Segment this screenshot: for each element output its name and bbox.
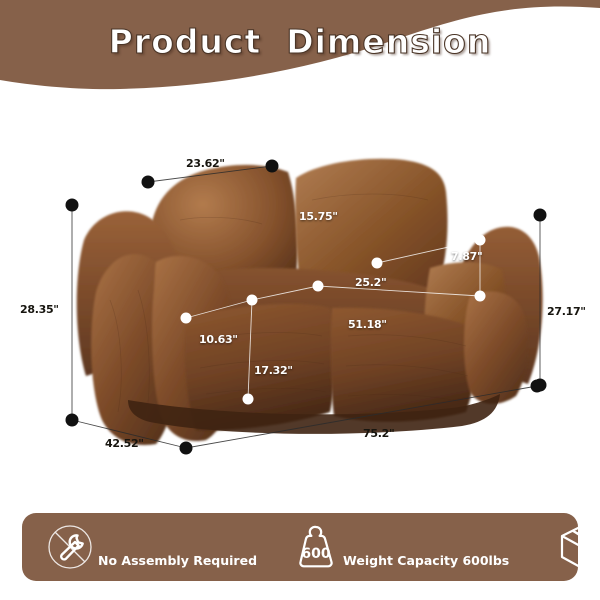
dot-pillow-left bbox=[142, 176, 155, 189]
dot-seat-front bbox=[313, 281, 324, 292]
dim-label-seat-depth: 25.2" bbox=[355, 276, 386, 289]
wrench-no-assembly-icon bbox=[46, 523, 94, 571]
package-box-icon bbox=[557, 522, 600, 572]
dimension-annotation-overlay bbox=[0, 0, 600, 600]
dimension-endpoint-dots-dark bbox=[66, 160, 547, 455]
dim-label-overall-height: 28.35" bbox=[20, 303, 59, 316]
feature-weight-capacity: 600 Weight Capacity 600lbs bbox=[293, 513, 509, 581]
dot-bolster-bottom bbox=[475, 291, 486, 302]
dot-seat-depth-back bbox=[372, 258, 383, 269]
feature-weight-capacity-label: Weight Capacity 600lbs bbox=[343, 553, 509, 568]
dot-seat-bottom bbox=[243, 394, 254, 405]
dot-bolster-top bbox=[475, 235, 486, 246]
dot-pillow-right bbox=[266, 160, 279, 173]
dim-label-overall-depth: 42.52" bbox=[105, 437, 144, 450]
feature-package-count: One Package bbox=[557, 513, 600, 581]
weight-icon-value: 600 bbox=[301, 546, 330, 562]
dot-arm-right bbox=[247, 295, 258, 306]
feature-no-assembly: No Assembly Required bbox=[46, 513, 257, 581]
dot-height-bottom bbox=[66, 414, 79, 427]
dot-height-top bbox=[66, 199, 79, 212]
dim-label-seat-height: 17.32" bbox=[254, 364, 293, 377]
dim-label-back-height-right: 27.17" bbox=[547, 305, 586, 318]
dot-depth-front bbox=[180, 442, 193, 455]
dim-label-pillow-width: 23.62" bbox=[186, 157, 225, 170]
dimension-endpoint-dots-light bbox=[181, 235, 486, 405]
dot-right-height-bottom bbox=[534, 379, 547, 392]
dot-arm-left bbox=[181, 313, 192, 324]
feature-no-assembly-label: No Assembly Required bbox=[98, 553, 257, 568]
dim-label-arm-width: 10.63" bbox=[199, 333, 238, 346]
product-dimension-infographic: Product Dimension bbox=[0, 0, 600, 600]
dimension-leader-lines-light bbox=[186, 240, 480, 399]
dot-right-height-top bbox=[534, 209, 547, 222]
feature-bar: No Assembly Required 600 Weight Capacity… bbox=[22, 513, 578, 581]
dim-label-back-cushion-height: 15.75" bbox=[299, 210, 338, 223]
dim-label-overall-width: 75.2" bbox=[363, 427, 394, 440]
weight-icon: 600 bbox=[293, 522, 339, 572]
dim-label-seat-width: 51.18" bbox=[348, 318, 387, 331]
dim-label-arm-to-back-depth: 7.87" bbox=[451, 250, 482, 263]
dimension-leader-lines-dark bbox=[72, 166, 540, 448]
